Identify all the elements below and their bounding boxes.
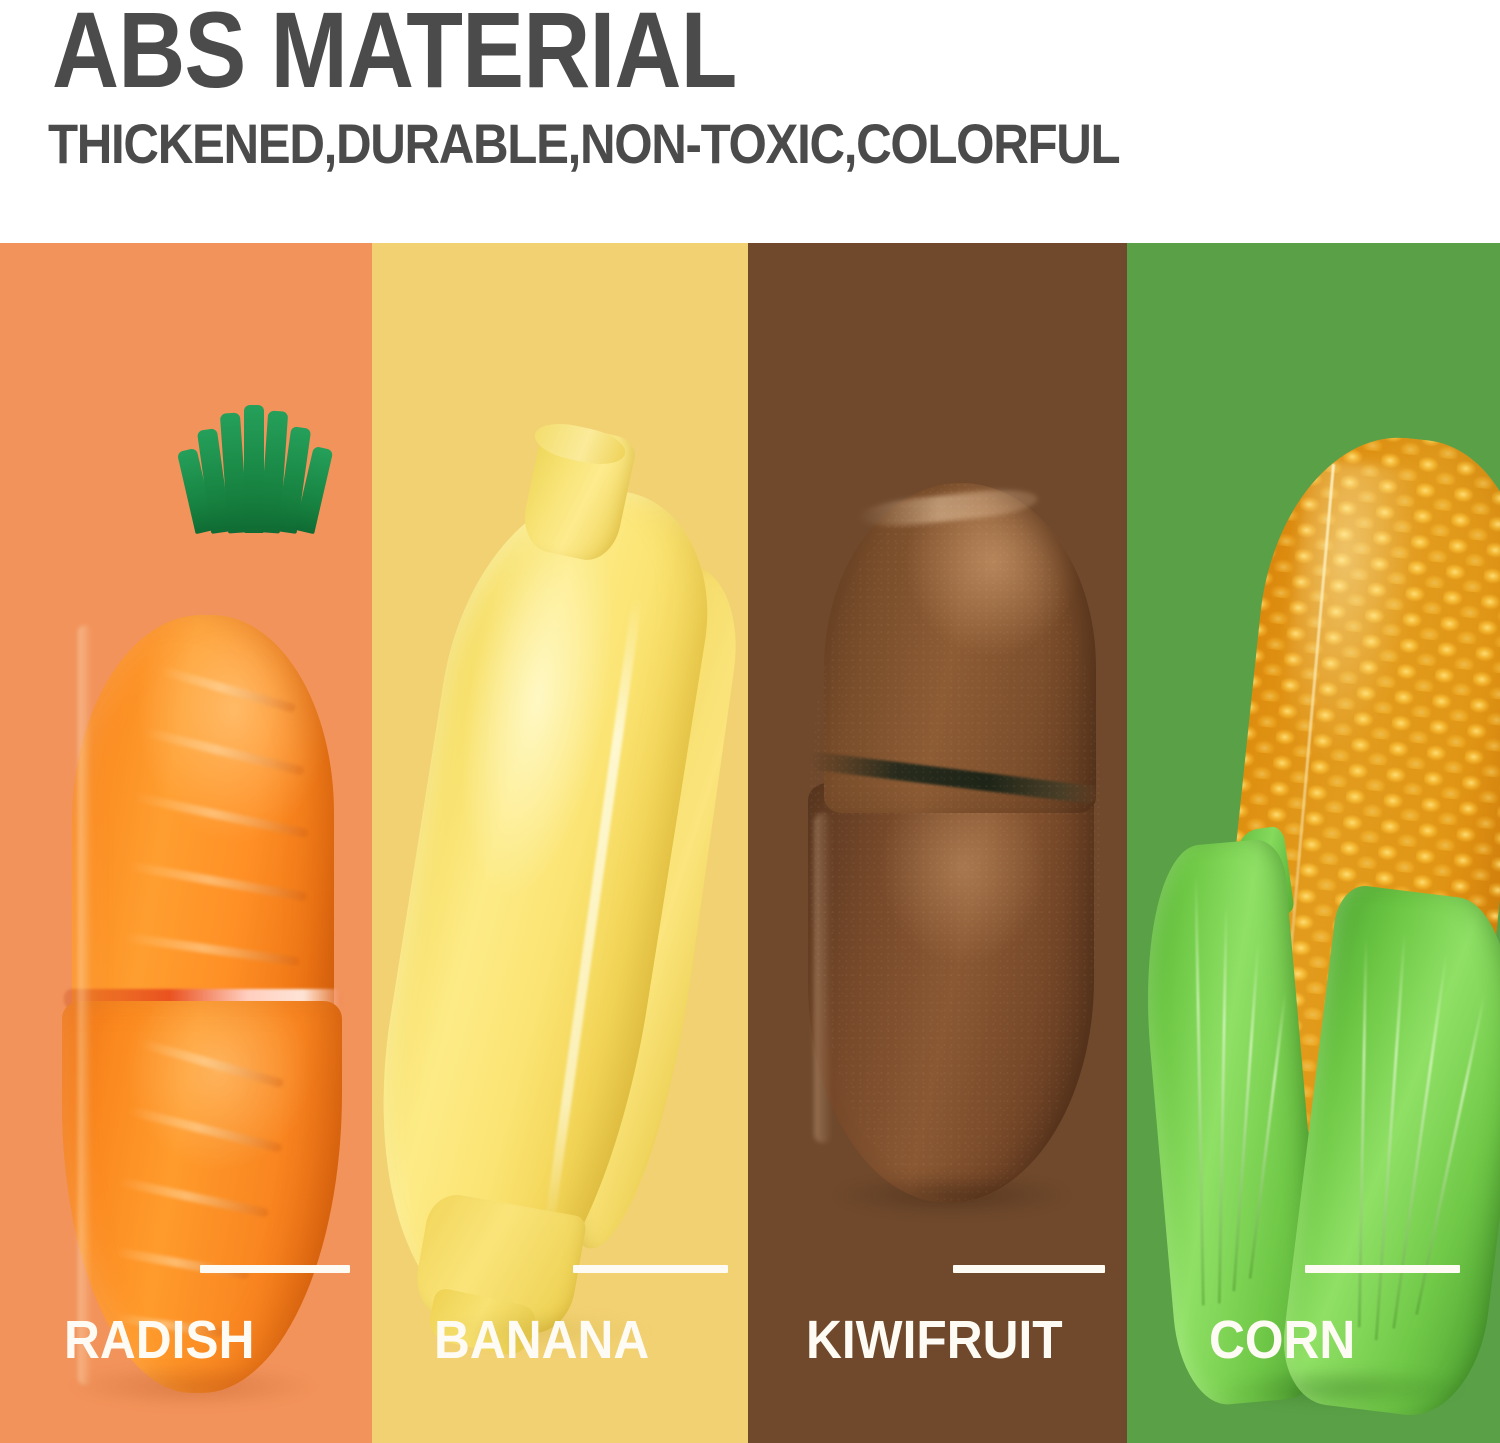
panel-radish[interactable]: RADISH (0, 243, 372, 1443)
caption-dash (1305, 1265, 1460, 1273)
panel-kiwifruit[interactable]: KIWIFRUIT (748, 243, 1127, 1443)
kiwifruit-shadow (832, 1173, 1072, 1217)
carrot-toy-icon (26, 403, 346, 1343)
caption-corn: CORN (1127, 1233, 1500, 1443)
caption-radish: RADISH (0, 1233, 372, 1443)
carrot-upper-half (72, 615, 334, 1045)
kiwifruit-fuzz-texture (810, 483, 1100, 1203)
panel-banana[interactable]: BANANA (372, 243, 748, 1443)
product-infographic: ABS MATERIAL THICKENED,DURABLE,NON-TOXIC… (0, 0, 1500, 1443)
page-title: ABS MATERIAL (52, 0, 737, 104)
caption-dash (953, 1265, 1105, 1273)
banana-toy-icon (382, 413, 742, 1373)
carrot-leaves-icon (184, 403, 336, 533)
caption-banana: BANANA (372, 1233, 748, 1443)
panel-label-banana: BANANA (434, 1313, 649, 1367)
caption-dash (200, 1265, 350, 1273)
panel-label-kiwifruit: KIWIFRUIT (806, 1313, 1063, 1367)
panel-label-corn: CORN (1209, 1313, 1355, 1367)
panel-label-radish: RADISH (64, 1313, 254, 1367)
panel-corn[interactable]: CORN (1127, 243, 1500, 1443)
caption-kiwifruit: KIWIFRUIT (748, 1233, 1127, 1443)
product-panel-strip: RADISH BANANA (0, 243, 1500, 1443)
page-subtitle: THICKENED,DURABLE,NON-TOXIC,COLORFUL (48, 116, 1119, 172)
kiwifruit-toy-icon (780, 483, 1110, 1223)
header-band: ABS MATERIAL THICKENED,DURABLE,NON-TOXIC… (0, 0, 1500, 243)
caption-dash (573, 1265, 728, 1273)
